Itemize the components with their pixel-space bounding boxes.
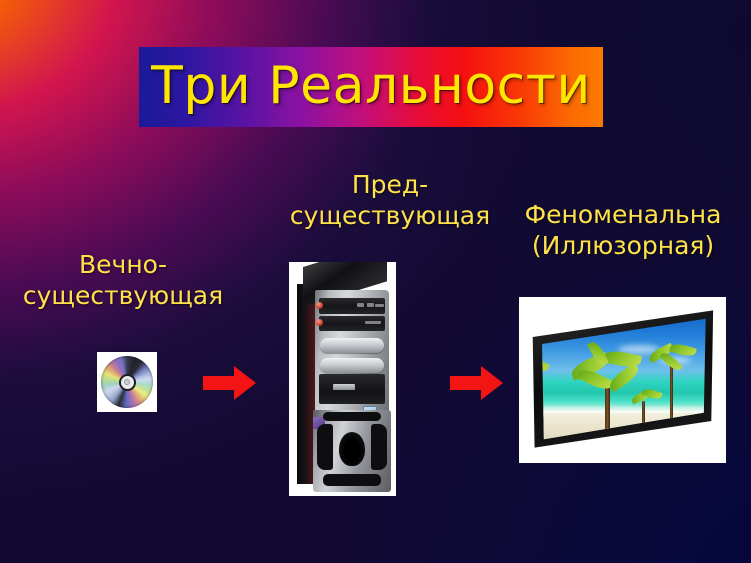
caption-eternal: Вечно- существующая [10, 250, 236, 311]
computer-tower-photo [289, 262, 396, 496]
palm-tree-a-trunk [605, 382, 610, 435]
arrow-right-icon-2 [450, 365, 503, 401]
arrow-right-icon-1 [203, 365, 256, 401]
presentation-slide: Три Реальности Вечно- существующая Пред-… [0, 0, 751, 563]
drive-button-2 [367, 303, 374, 307]
caption-phenomenal-line1: Феноменальна [503, 200, 743, 231]
compact-disc-hub [119, 374, 136, 391]
vent-slot-top [323, 412, 381, 421]
vent-slot-center [339, 432, 365, 466]
front-bezel-rib-2 [320, 358, 384, 373]
caption-phenomenal: Феноменальна (Иллюзорная) [503, 200, 743, 261]
vent-slot-bottom [323, 474, 381, 486]
caption-eternal-line1: Вечно- [10, 250, 236, 281]
computer-lower-bezel [313, 410, 391, 492]
drive-button-1 [357, 303, 364, 307]
tv-unit [529, 309, 715, 449]
vent-slot-left [317, 424, 333, 470]
palm-tree-a-frond-4 [606, 362, 641, 392]
title-banner: Три Реальности [139, 47, 603, 127]
front-bezel-rib-1 [320, 338, 384, 353]
computer-io-strip [333, 384, 355, 390]
caption-pre-existing: Пред- существующая [255, 170, 525, 231]
slide-title: Три Реальности [139, 60, 603, 112]
caption-pre-existing-line2: существующая [255, 201, 525, 232]
power-led-icon [316, 302, 323, 309]
caption-eternal-line2: существующая [10, 281, 236, 312]
drive-button-4 [365, 321, 381, 324]
vent-slot-right [371, 424, 387, 470]
compact-disc-icon [101, 356, 153, 408]
caption-phenomenal-line2: (Иллюзорная) [503, 231, 743, 262]
compact-disc-hole [124, 379, 130, 385]
flat-screen-tv-photo [519, 297, 726, 463]
drive-button-3 [375, 304, 384, 307]
compact-disc-photo [97, 352, 157, 412]
activity-led-icon [316, 319, 323, 326]
caption-pre-existing-line1: Пред- [255, 170, 525, 201]
